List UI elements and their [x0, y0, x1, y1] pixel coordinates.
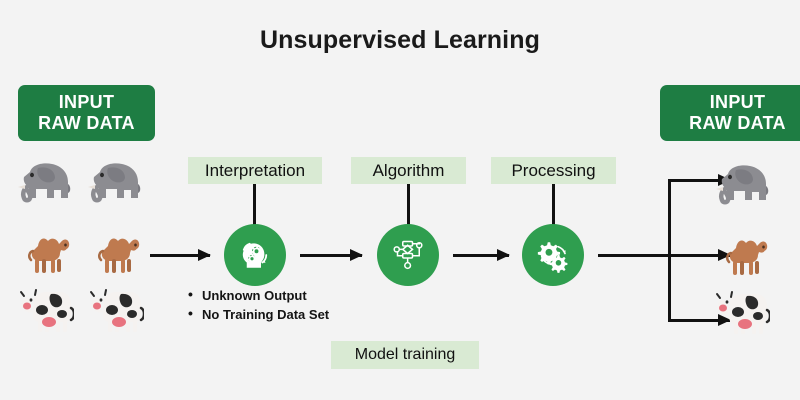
arrow-processing-trunk — [598, 254, 730, 257]
camel-icon — [718, 230, 770, 278]
elephant-icon — [714, 162, 770, 208]
bullet-item: Unknown Output — [202, 286, 329, 305]
bullet-list: Unknown Output No Training Data Set — [185, 286, 329, 324]
input-animal-cow-1 — [18, 286, 74, 334]
input-box-right-line1: INPUT — [710, 92, 766, 113]
stage-label-model-training: Model training — [331, 341, 479, 369]
input-animal-camel-1 — [20, 228, 72, 276]
input-animal-cow-2 — [88, 286, 144, 334]
stage-circle-processing — [522, 224, 584, 286]
head-gears-icon — [237, 237, 273, 273]
input-box-right-line2: RAW DATA — [689, 113, 786, 134]
output-animal-camel — [718, 230, 770, 278]
page-title: Unsupervised Learning — [0, 26, 800, 55]
stage-circle-interpretation — [224, 224, 286, 286]
input-animal-elephant-1 — [16, 160, 72, 206]
input-animal-camel-2 — [90, 228, 142, 276]
arrow-algorithm-to-processing — [453, 254, 509, 257]
cow-icon — [18, 286, 74, 334]
arrow-input-to-interpretation — [150, 254, 210, 257]
output-animal-elephant — [714, 162, 770, 208]
input-animal-elephant-2 — [86, 160, 142, 206]
input-raw-data-box-left: INPUT RAW DATA — [18, 85, 155, 141]
elephant-icon — [16, 160, 72, 206]
flowchart-icon — [390, 237, 426, 273]
stage-label-interpretation: Interpretation — [188, 157, 322, 184]
stage-label-algorithm: Algorithm — [351, 157, 466, 184]
connector-stem-algorithm — [407, 184, 410, 225]
branch-spine — [668, 179, 671, 322]
stage-circle-algorithm — [377, 224, 439, 286]
gears-refresh-icon — [535, 237, 571, 273]
input-raw-data-box-right: INPUT RAW DATA — [660, 85, 800, 141]
stage-label-processing: Processing — [491, 157, 616, 184]
input-box-left-line1: INPUT — [59, 92, 115, 113]
cow-icon — [714, 288, 770, 336]
connector-stem-interpretation — [253, 184, 256, 225]
output-animal-cow — [714, 288, 770, 336]
input-box-left-line2: RAW DATA — [38, 113, 135, 134]
bullet-item: No Training Data Set — [202, 305, 329, 324]
connector-stem-processing — [552, 184, 555, 225]
cow-icon — [88, 286, 144, 334]
elephant-icon — [86, 160, 142, 206]
arrow-interpretation-to-algorithm — [300, 254, 362, 257]
diagram-canvas: Unsupervised Learning INPUT RAW DATA INP… — [0, 0, 800, 400]
camel-icon — [90, 228, 142, 276]
camel-icon — [20, 228, 72, 276]
